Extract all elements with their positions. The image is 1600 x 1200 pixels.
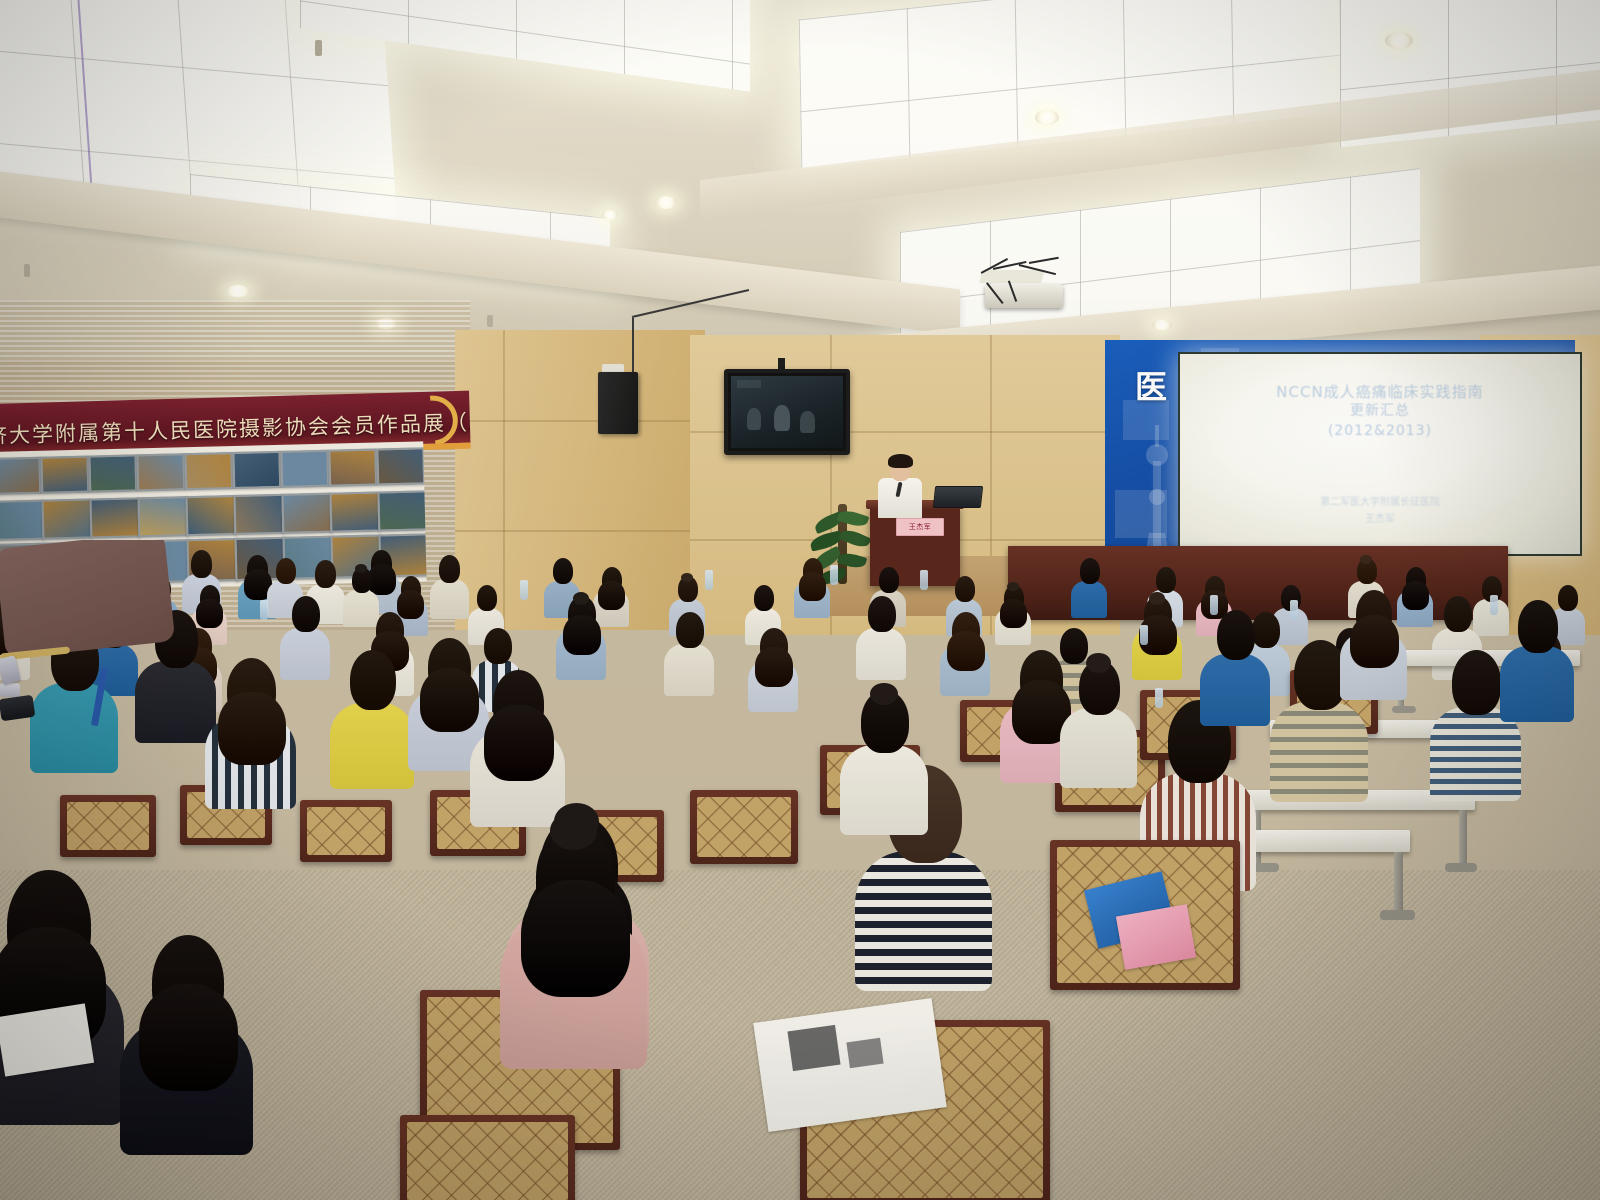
long-hair (484, 705, 554, 781)
auditorium-chair-foreground[interactable] (400, 1115, 575, 1200)
person-torso (840, 745, 928, 835)
long-hair (563, 615, 600, 655)
podium-name-sign: 王杰军 (896, 518, 944, 536)
slide-content: NCCN成人癌痛临床实践指南 更新汇总 (2012&2013) (1180, 382, 1580, 442)
gallery-photo (377, 490, 426, 531)
sprinkler-icon (315, 40, 322, 56)
person-head (1444, 596, 1471, 632)
audience-seating (0, 540, 1600, 1200)
person-head (1518, 600, 1558, 653)
slide-subtitle: 更新汇总 (1180, 402, 1580, 421)
gallery-photo (88, 454, 137, 492)
auditorium-chair[interactable] (300, 800, 392, 862)
podium-sign-text: 王杰军 (909, 522, 932, 532)
audience-member (940, 612, 990, 684)
desk-leg (1459, 810, 1467, 867)
water-bottle (520, 580, 528, 600)
audience-member (556, 596, 606, 668)
water-bottle (1210, 595, 1218, 615)
water-bottle (920, 570, 928, 590)
hair-bun (1086, 653, 1110, 673)
chair-upholstery (407, 1122, 568, 1200)
long-hair (947, 631, 984, 671)
projection-screen: NCCN成人癌痛临床实践指南 更新汇总 (2012&2013) 第二军医大学附属… (1178, 352, 1582, 556)
gallery-photo (41, 499, 92, 540)
cable (632, 318, 634, 376)
audience-member (995, 585, 1031, 637)
gallery-photo (233, 494, 284, 535)
audience-member (470, 670, 565, 805)
downlight-icon (225, 285, 251, 297)
person-head (868, 596, 895, 632)
downlight-icon (1385, 32, 1413, 49)
hair-bun (870, 683, 898, 706)
gallery-photo (0, 500, 44, 541)
audience-member (1340, 590, 1407, 685)
gallery-photo (329, 491, 380, 532)
downlight-icon (1152, 320, 1172, 330)
person-torso (30, 683, 118, 773)
handbag (0, 540, 175, 659)
conference-hall-photo: 济大学附属第十人民医院摄影协会会员作品展（第二期） (0, 0, 1600, 1200)
smartphone-icon (0, 683, 20, 697)
laptop-icon (930, 486, 982, 510)
long-hair (755, 647, 792, 687)
hair-bun (573, 592, 589, 605)
person-head (754, 585, 774, 611)
water-bottle (1140, 625, 1148, 645)
person-head (1452, 650, 1501, 715)
long-hair (218, 692, 286, 765)
water-bottle (1155, 688, 1163, 708)
chair-upholstery (307, 807, 385, 855)
presenter (878, 456, 922, 516)
projector-icon (975, 258, 1071, 310)
person-head (315, 560, 336, 588)
long-hair (1000, 599, 1027, 628)
slide-title: NCCN成人癌痛临床实践指南 (1180, 382, 1580, 402)
person-head (955, 576, 975, 602)
audience-member (1200, 610, 1270, 710)
water-bottle (260, 600, 268, 620)
person-torso (855, 851, 992, 991)
person-torso (1060, 708, 1137, 787)
audience-member (794, 558, 830, 610)
person-torso (664, 644, 714, 696)
gallery-photo (328, 449, 377, 487)
desk-foot (1445, 863, 1477, 872)
booklet-image (787, 1025, 840, 1071)
audience-member (840, 690, 928, 815)
auditorium-chair[interactable] (60, 795, 156, 857)
gallery-photo (136, 453, 185, 491)
audience-member (856, 596, 906, 668)
audience-member (500, 825, 647, 1035)
water-bottle (1290, 600, 1298, 620)
gallery-photo (0, 457, 41, 495)
slide-footer-line2: 王杰军 (1180, 511, 1580, 528)
person-head (1294, 640, 1347, 710)
person-head (553, 558, 573, 584)
downlight-icon (655, 196, 677, 209)
person-head (1217, 610, 1255, 660)
hair-bun (550, 812, 596, 850)
long-hair (1350, 615, 1399, 668)
chair-upholstery (67, 802, 149, 850)
hair-bun (1149, 592, 1165, 605)
sprinkler-icon (24, 264, 30, 277)
pearl-tower-silhouette (1135, 425, 1179, 555)
slide-footer: 第二军医大学附属长征医院 王杰军 (1180, 494, 1580, 528)
downlight-icon (602, 210, 618, 220)
audience-member (1500, 600, 1574, 705)
person-head (191, 550, 212, 578)
gallery-photo (40, 456, 89, 494)
person-head (292, 596, 319, 632)
audience-member (1071, 558, 1107, 610)
gallery-photo (281, 493, 332, 534)
person-torso (430, 579, 469, 619)
sprinkler-icon (487, 315, 493, 327)
water-bottle (705, 570, 713, 590)
long-hair (139, 984, 238, 1090)
downlight-icon (1035, 110, 1059, 125)
speaker-icon (598, 372, 638, 434)
monitor-icon (724, 369, 850, 455)
person-head (1156, 567, 1176, 593)
person-head (879, 567, 899, 593)
long-hair (799, 572, 826, 601)
person-torso (1270, 702, 1368, 803)
backdrop-char-left: 医 (1135, 362, 1167, 408)
gallery-photo (185, 495, 236, 536)
person-head (676, 612, 703, 648)
chair-upholstery (697, 797, 791, 857)
long-hair (521, 880, 630, 998)
person-head (439, 555, 460, 583)
gallery-photo (280, 450, 329, 488)
audience-member (330, 650, 414, 770)
audience-member (748, 628, 798, 700)
person-torso (330, 703, 414, 789)
person-head (276, 558, 296, 584)
auditorium-chair[interactable] (690, 790, 798, 864)
monitor-screen (731, 376, 843, 448)
person-torso (135, 661, 216, 744)
gallery-photo (184, 452, 233, 490)
audience-member (430, 555, 469, 610)
desk-leg (1394, 852, 1403, 914)
audience-member (664, 612, 714, 684)
desk-foot (1380, 910, 1415, 920)
person-torso (856, 628, 906, 680)
person-torso (1200, 654, 1270, 726)
water-bottle (830, 565, 838, 585)
water-bottle (1490, 595, 1498, 615)
audience-member (1060, 660, 1137, 770)
desk-foot (1392, 706, 1416, 713)
person-torso (1500, 646, 1574, 722)
audience-member (205, 658, 296, 788)
gallery-photo (376, 447, 425, 485)
audience-member (120, 935, 253, 1125)
booklet-image (846, 1038, 883, 1068)
gallery-photo (89, 497, 140, 538)
person-head (350, 650, 396, 710)
slide-year: (2012&2013) (1180, 421, 1580, 442)
gallery-photo (137, 496, 188, 537)
gallery-photo (232, 451, 281, 489)
person-head (1080, 558, 1100, 584)
person-head (477, 585, 497, 611)
slide-footer-line1: 第二军医大学附属长征医院 (1180, 494, 1580, 511)
person-torso (1071, 581, 1107, 618)
